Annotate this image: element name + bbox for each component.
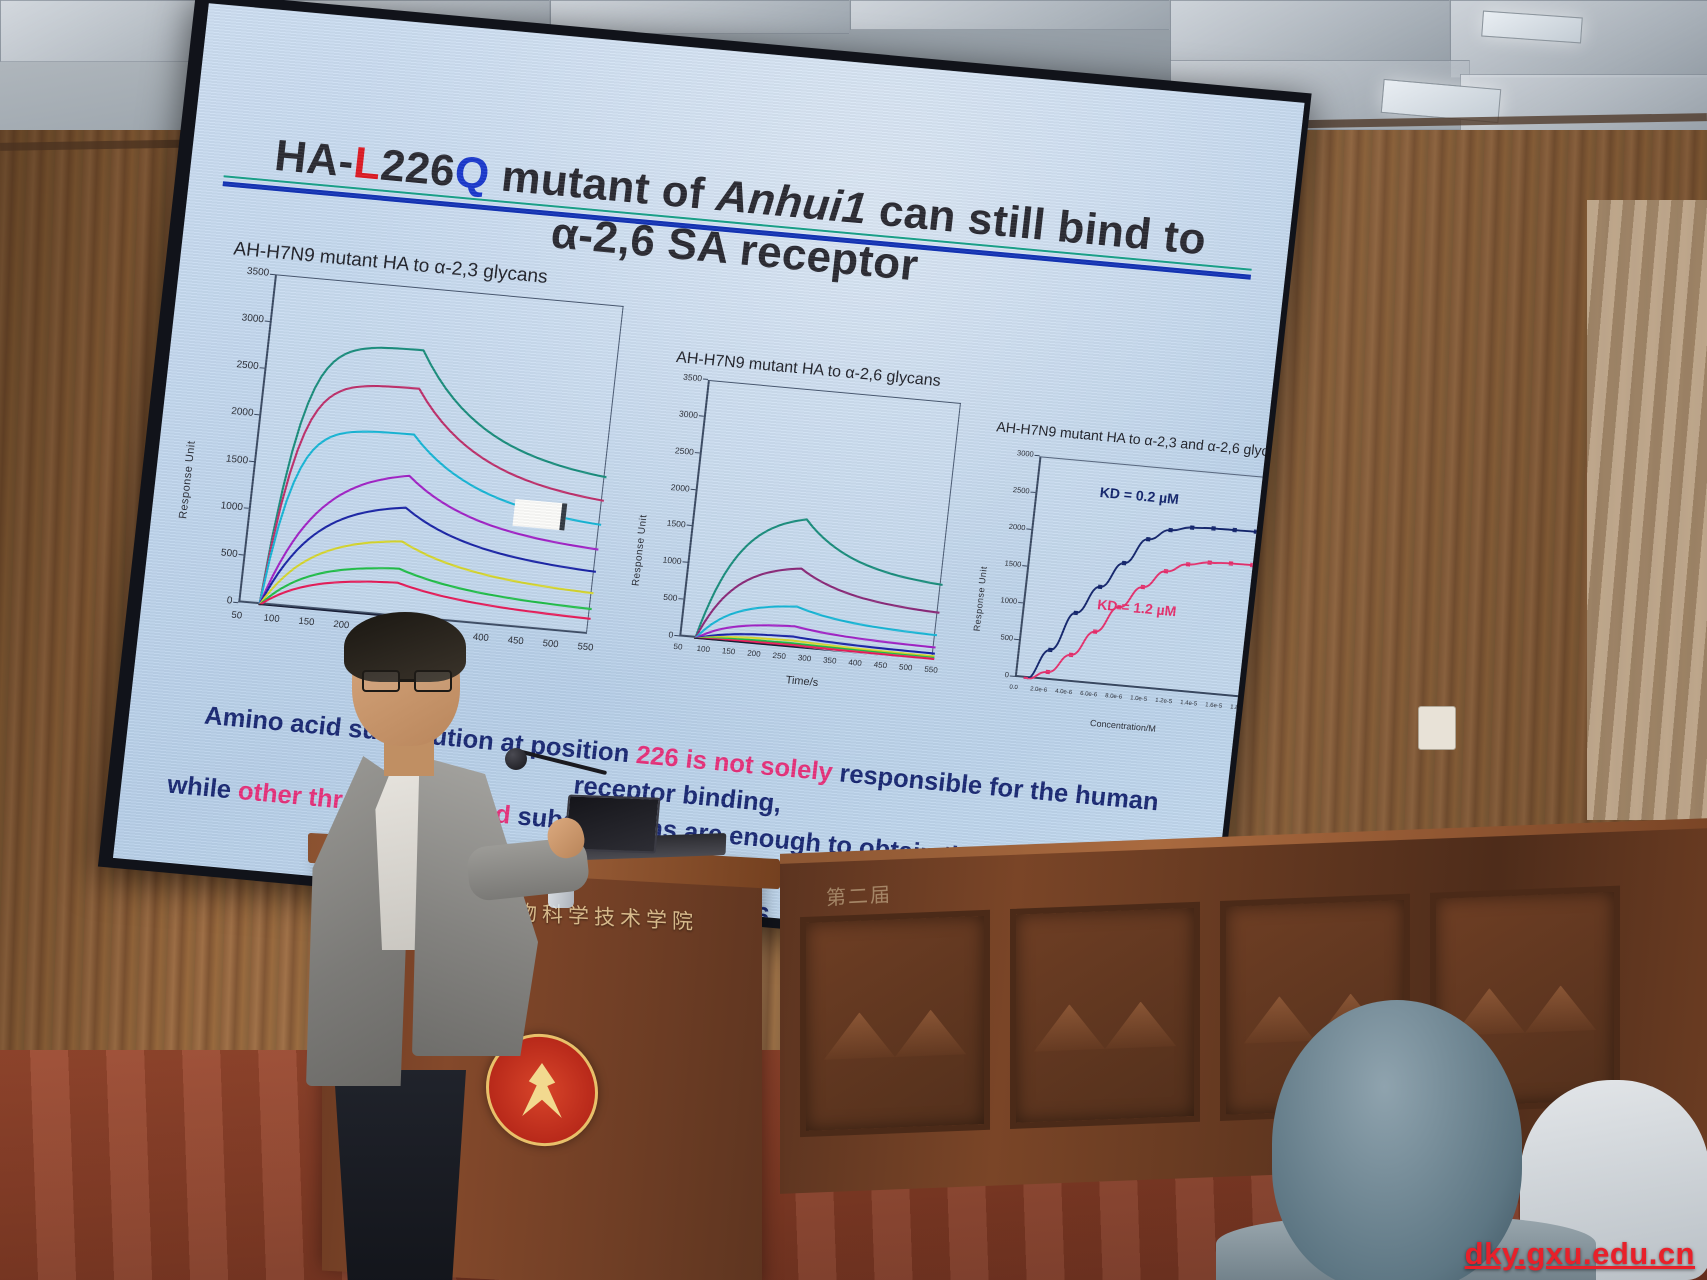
watermark-url: dky.gxu.edu.cn <box>1465 1236 1695 1272</box>
ceiling-panel <box>1170 0 1450 62</box>
xtick-label: 550 <box>913 664 950 676</box>
chart-1-ylabel: Response Unit <box>177 379 205 519</box>
conclusion-seg: while <box>166 771 240 805</box>
ytick-label: 1500 <box>210 452 249 466</box>
presentation-slide: HA-L226Q mutant of Anhui1 can still bind… <box>113 3 1305 957</box>
ytick-label: 3000 <box>225 311 264 325</box>
ytick-label: 500 <box>975 630 1014 642</box>
ceiling-panel <box>850 0 1170 30</box>
chart-3-ylabel: Response Unit <box>972 525 994 631</box>
ytick-label: 0 <box>635 626 674 639</box>
ytick-label: 1500 <box>647 516 686 529</box>
presenter-legs <box>322 1070 472 1280</box>
ytick-label: 2500 <box>991 483 1030 495</box>
ytick-label: 0 <box>971 667 1010 679</box>
ytick-label: 2000 <box>215 405 254 419</box>
conference-room: HA-L226Q mutant of Anhui1 can still bind… <box>0 0 1707 1280</box>
bench-panel-zigzag <box>824 1008 966 1059</box>
title-seg: 226 <box>378 141 457 196</box>
ytick-label: 3500 <box>664 370 703 383</box>
chart-3-title: AH-H7N9 mutant HA to α-2,3 and α-2,6 gly… <box>996 418 1292 461</box>
ytick-label: 2000 <box>651 480 690 493</box>
eyeglasses-icon <box>362 670 458 692</box>
ytick-label: 0 <box>194 592 233 606</box>
chart-2-plot-area <box>679 380 961 659</box>
bench-poster-text: 第二届 <box>826 878 892 910</box>
ytick-label: 500 <box>639 590 678 603</box>
led-display-frame: HA-L226Q mutant of Anhui1 can still bind… <box>98 0 1312 968</box>
ytick-label: 3000 <box>660 407 699 420</box>
ytick-label: 1000 <box>643 553 682 566</box>
chart-1-curves <box>240 275 625 635</box>
bench-panel-zigzag <box>1034 1000 1176 1051</box>
chart-3-xlabel: Concentration/M <box>1010 711 1236 741</box>
chart-1-overlay-patch <box>512 499 567 531</box>
xtick-label: 50 <box>218 609 255 623</box>
title-seg-blue: Q <box>452 147 492 199</box>
presenter-jacket-right <box>412 756 538 1056</box>
bench-panel <box>800 910 990 1137</box>
bench-panel-zigzag <box>1454 984 1596 1035</box>
wall-panel-box <box>1418 706 1456 750</box>
window-curtain <box>1587 200 1707 820</box>
ytick-label: 3500 <box>231 264 270 278</box>
xtick-label: 550 <box>567 640 604 654</box>
chart-3: AH-H7N9 mutant HA to α-2,3 and α-2,6 gly… <box>955 422 1290 767</box>
led-display-screen[interactable]: HA-L226Q mutant of Anhui1 can still bind… <box>113 3 1305 957</box>
bench-panel <box>1010 902 1200 1129</box>
chart-2: AH-H7N9 mutant HA to α-2,6 glycans Respo… <box>619 349 988 737</box>
ytick-label: 2500 <box>220 358 259 372</box>
xtick-label: 100 <box>253 612 290 626</box>
ytick-label: 3000 <box>995 446 1034 458</box>
ytick-label: 500 <box>199 545 238 559</box>
ytick-label: 2500 <box>655 443 694 456</box>
ytick-label: 1000 <box>204 499 243 513</box>
title-seg: HA- <box>272 131 356 187</box>
chart-1-plot-area <box>238 274 623 634</box>
chart-2-curves <box>681 381 963 660</box>
presenter <box>300 618 570 1280</box>
